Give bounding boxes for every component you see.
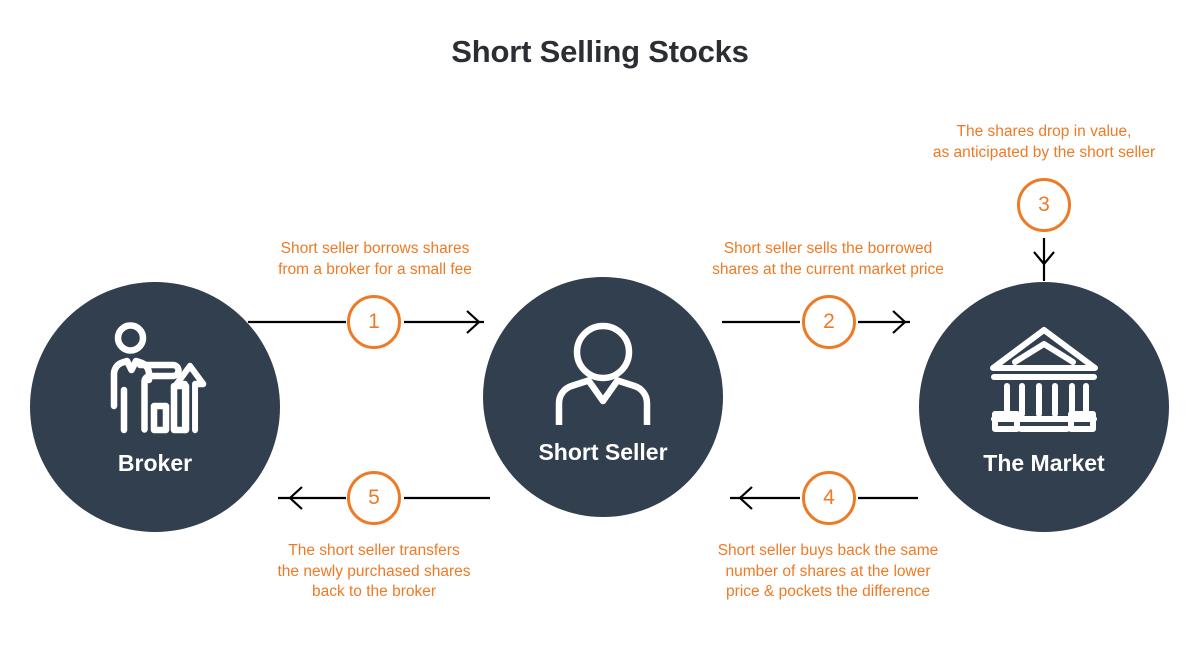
caption-step-1: Short seller borrows shares from a broke… xyxy=(240,239,510,280)
caption-step-3: The shares drop in value, as anticipated… xyxy=(908,122,1180,163)
caption-step-5: The short seller transfers the newly pur… xyxy=(239,541,509,603)
caption-step-2: Short seller sells the borrowed shares a… xyxy=(693,239,963,280)
node-market-label: The Market xyxy=(919,450,1169,477)
caption-step-4: Short seller buys back the same number o… xyxy=(693,541,963,603)
node-market[interactable]: The Market xyxy=(919,282,1169,532)
bank-building-icon xyxy=(989,324,1099,439)
step-badge-3[interactable]: 3 xyxy=(1017,178,1071,232)
node-broker-label: Broker xyxy=(30,450,280,477)
broker-chart-person-icon xyxy=(102,322,208,439)
step-badge-1[interactable]: 1 xyxy=(347,295,401,349)
node-short-seller-label: Short Seller xyxy=(483,439,723,466)
node-short-seller[interactable]: Short Seller xyxy=(483,277,723,517)
node-broker[interactable]: Broker xyxy=(30,282,280,532)
step-badge-2[interactable]: 2 xyxy=(802,295,856,349)
step-badge-5[interactable]: 5 xyxy=(347,471,401,525)
step-badge-4[interactable]: 4 xyxy=(802,471,856,525)
diagram-canvas: Short Selling Stocks xyxy=(0,0,1200,666)
person-avatar-icon xyxy=(555,321,651,430)
